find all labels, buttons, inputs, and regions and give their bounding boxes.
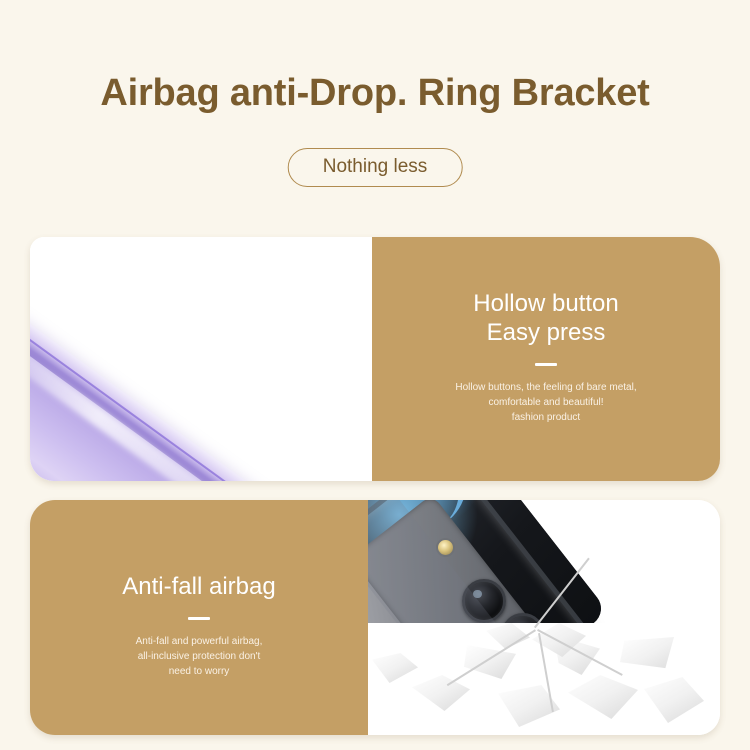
subtitle-pill: Nothing less — [288, 148, 463, 187]
divider-dash — [188, 617, 210, 620]
hollow-button-body-text: Hollow buttons, the feeling of bare meta… — [372, 380, 720, 425]
ground-shard — [412, 675, 470, 711]
ground-shard — [464, 645, 516, 679]
anti-fall-copy-panel: Anti-fall airbag Anti-fall and powerful … — [30, 500, 368, 735]
page-header: Airbag anti-Drop. Ring Bracket Nothing l… — [0, 0, 750, 237]
ground-shard — [372, 653, 418, 683]
ground-shard — [568, 675, 638, 719]
anti-fall-copy-inner: Anti-fall airbag Anti-fall and powerful … — [30, 572, 368, 679]
hollow-button-copy-inner: Hollow button Easy press Hollow buttons,… — [372, 289, 720, 425]
hollow-button-heading: Hollow button Easy press — [372, 289, 720, 347]
anti-fall-heading: Anti-fall airbag — [30, 572, 368, 601]
shattered-ground — [368, 623, 720, 735]
anti-fall-photo — [368, 500, 720, 735]
ground-shard — [644, 677, 704, 723]
hollow-button-photo — [30, 237, 372, 481]
page-title: Airbag anti-Drop. Ring Bracket — [0, 72, 750, 115]
divider-dash — [535, 363, 557, 366]
anti-fall-body-text: Anti-fall and powerful airbag, all-inclu… — [30, 634, 368, 679]
ground-shard — [620, 637, 674, 675]
phone-impact-photo — [368, 500, 720, 735]
purple-case-photo — [30, 237, 372, 481]
hollow-button-copy-panel: Hollow button Easy press Hollow buttons,… — [372, 237, 720, 481]
feature-section-hollow-button: Hollow button Easy press Hollow buttons,… — [30, 237, 720, 481]
feature-section-anti-fall-airbag: Anti-fall airbag Anti-fall and powerful … — [30, 500, 720, 735]
crack-line — [447, 629, 536, 686]
